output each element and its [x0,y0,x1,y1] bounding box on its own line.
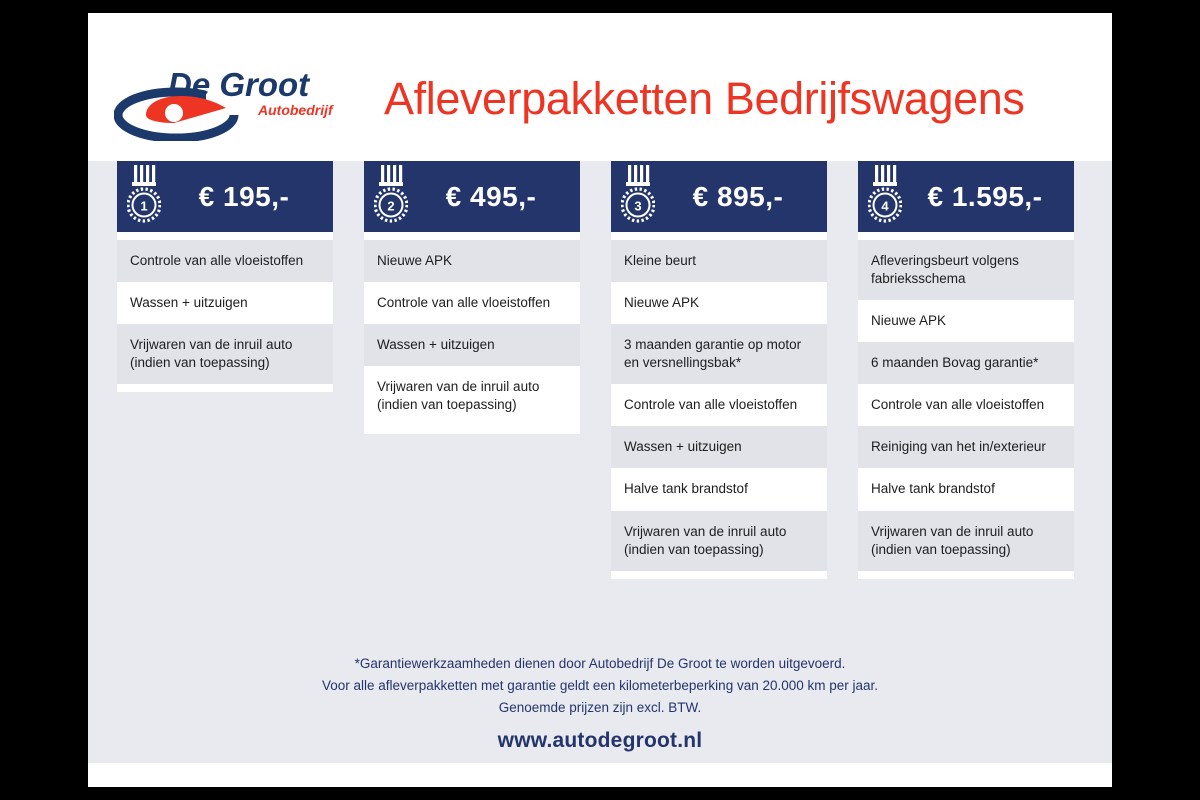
package-price: € 895,- [659,181,827,213]
list-item: Wassen + uitzuigen [117,282,333,324]
svg-text:Autobedrijf: Autobedrijf [257,102,334,118]
medal-icon: 1 [127,165,161,229]
package-card-header: 2 € 495,- [364,161,580,232]
medal-rank: 3 [634,198,641,213]
medal-icon: 2 [374,165,408,229]
package-card[interactable]: 3 € 895,- Kleine beurt Nieuwe APK 3 maan… [611,161,827,579]
list-item: Controle van alle vloeistoffen [117,240,333,282]
svg-text:De Groot: De Groot [168,66,311,103]
package-item-list: Controle van alle vloeistoffen Wassen + … [117,232,333,392]
brand-logo: De Groot Autobedrijf [114,63,334,141]
list-item: Wassen + uitzuigen [611,426,827,468]
package-card[interactable]: 2 € 495,- Nieuwe APK Controle van alle v… [364,161,580,579]
list-item: Vrijwaren van de inruil auto (indien van… [858,511,1074,571]
package-card-list: 1 € 195,- Controle van alle vloeistoffen… [88,161,1112,579]
list-item: Wassen + uitzuigen [364,324,580,366]
package-card[interactable]: 4 € 1.595,- Afleveringsbeurt volgens fab… [858,161,1074,579]
list-item: Halve tank brandstof [858,468,1074,510]
list-item: Nieuwe APK [364,240,580,282]
list-item: Nieuwe APK [858,300,1074,342]
bottom-white-band [88,763,1112,787]
list-item: Controle van alle vloeistoffen [858,384,1074,426]
medal-rank: 1 [140,198,147,213]
medal-icon: 3 [621,165,655,229]
package-item-list: Nieuwe APK Controle van alle vloeistoffe… [364,232,580,434]
list-item: Controle van alle vloeistoffen [611,384,827,426]
list-item: Vrijwaren van de inruil auto (indien van… [611,511,827,571]
footnote-line: Voor alle afleverpakketten met garantie … [88,675,1112,697]
list-item: 6 maanden Bovag garantie* [858,342,1074,384]
package-card[interactable]: 1 € 195,- Controle van alle vloeistoffen… [117,161,333,579]
page-title: Afleverpakketten Bedrijfswagens [384,73,1024,125]
list-item: 3 maanden garantie op motor en versnelli… [611,324,827,384]
poster-canvas: De Groot Autobedrijf Afleverpakketten Be… [88,13,1112,787]
footnote-line: *Garantiewerkzaamheden dienen door Autob… [88,653,1112,675]
website-url[interactable]: www.autodegroot.nl [88,729,1112,753]
package-card-header: 3 € 895,- [611,161,827,232]
medal-icon: 4 [868,165,902,229]
package-price: € 195,- [165,181,333,213]
list-item: Afleveringsbeurt volgens fabrieksschema [858,240,1074,300]
package-price: € 1.595,- [906,181,1074,213]
list-item: Reiniging van het in/exterieur [858,426,1074,468]
footnote-line: Genoemde prijzen zijn excl. BTW. [88,697,1112,719]
package-price: € 495,- [412,181,580,213]
footnotes: *Garantiewerkzaamheden dienen door Autob… [88,653,1112,719]
package-card-header: 1 € 195,- [117,161,333,232]
list-item: Nieuwe APK [611,282,827,324]
list-item: Vrijwaren van de inruil auto (indien van… [117,324,333,384]
medal-rank: 4 [881,198,889,213]
list-item: Controle van alle vloeistoffen [364,282,580,324]
list-item: Halve tank brandstof [611,468,827,510]
package-item-list: Afleveringsbeurt volgens fabrieksschema … [858,232,1074,579]
list-item: Vrijwaren van de inruil auto (indien van… [364,366,580,426]
de-groot-swoosh-logo: De Groot Autobedrijf [114,63,334,141]
list-item: Kleine beurt [611,240,827,282]
header-band: De Groot Autobedrijf Afleverpakketten Be… [88,13,1112,161]
medal-rank: 2 [387,198,394,213]
package-card-header: 4 € 1.595,- [858,161,1074,232]
package-item-list: Kleine beurt Nieuwe APK 3 maanden garant… [611,232,827,579]
